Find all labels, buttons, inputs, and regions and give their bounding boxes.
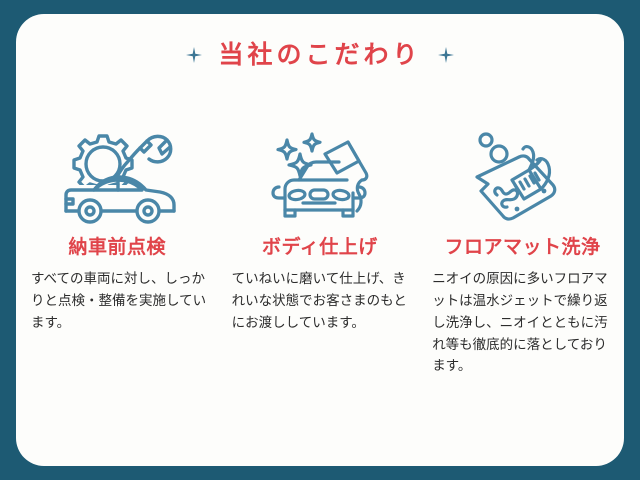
corner-notch-bottom-left (16, 438, 44, 466)
feature-column: ボディ仕上げ ていねいに磨いて仕上げ、きれいな状態でお客さまのもとにお渡ししてい… (219, 120, 422, 378)
feature-column: フロアマット洗浄 ニオイの原因に多いフロアマットは温水ジェットで繰り返し洗浄し、… (421, 120, 624, 378)
feature-heading: フロアマット洗浄 (444, 238, 600, 257)
car-polish-sparkle-icon (255, 120, 385, 232)
feature-body: ニオイの原因に多いフロアマットは温水ジェットで繰り返し洗浄し、ニオイとともに汚れ… (430, 269, 615, 378)
poster-root: 当社のこだわり (0, 0, 640, 480)
feature-column: 納車前点検 すべての車両に対し、しっかりと点検・整備を実施しています。 (16, 120, 219, 378)
header: 当社のこだわり (0, 42, 640, 67)
corner-notch-top-left (16, 14, 44, 42)
brush-floormat-icon (457, 120, 587, 232)
gear-wrench-car-icon (52, 120, 182, 232)
feature-heading: 納車前点検 (69, 238, 167, 257)
page-title: 当社のこだわり (218, 42, 421, 67)
corner-notch-bottom-right (596, 438, 624, 466)
feature-body: すべての車両に対し、しっかりと点検・整備を実施しています。 (21, 269, 214, 335)
feature-heading: ボディ仕上げ (262, 238, 378, 257)
feature-body: ていねいに磨いて仕上げ、きれいな状態でお客さまのもとにお渡ししています。 (226, 269, 415, 335)
corner-notch-top-right (596, 14, 624, 42)
sparkle-icon (186, 47, 202, 63)
sparkle-icon (438, 47, 454, 63)
feature-columns: 納車前点検 すべての車両に対し、しっかりと点検・整備を実施しています。 (16, 120, 624, 378)
